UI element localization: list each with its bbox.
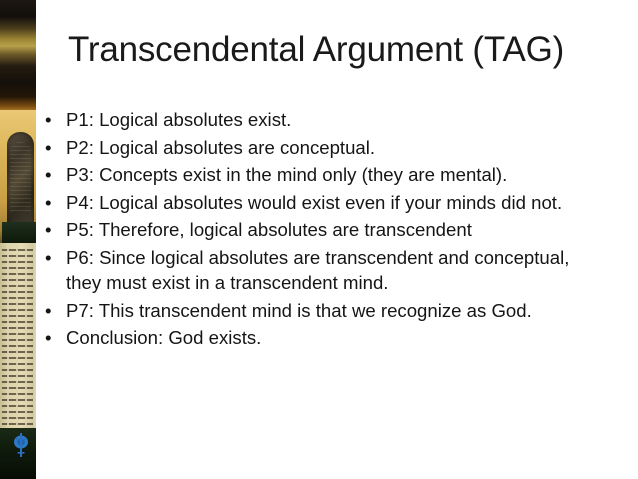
bullet-marker-icon: •: [45, 325, 52, 351]
bullet-marker-icon: •: [45, 190, 52, 216]
sidebar-blurred-amber-band: [0, 0, 36, 118]
list-item-label: P2: Logical absolutes are conceptual.: [66, 137, 375, 158]
list-item: • P3: Concepts exist in the mind only (t…: [42, 162, 598, 188]
list-item: • P1: Logical absolutes exist.: [42, 107, 598, 133]
list-item: • P7: This transcendent mind is that we …: [42, 298, 598, 324]
list-item: • P6: Since logical absolutes are transc…: [42, 245, 598, 296]
list-item: • P2: Logical absolutes are conceptual.: [42, 135, 598, 161]
list-item-label: P1: Logical absolutes exist.: [66, 109, 291, 130]
blue-cross-emblem-icon: [13, 432, 29, 458]
slide: Transcendental Argument (TAG) • P1: Logi…: [0, 0, 638, 479]
bullet-marker-icon: •: [45, 162, 52, 188]
bullet-marker-icon: •: [45, 217, 52, 243]
list-item-label: P4: Logical absolutes would exist even i…: [66, 192, 562, 213]
list-item: • P5: Therefore, logical absolutes are t…: [42, 217, 598, 243]
list-item-label: P3: Concepts exist in the mind only (the…: [66, 164, 507, 185]
argument-premise-list: • P1: Logical absolutes exist. • P2: Log…: [42, 107, 598, 353]
bullet-marker-icon: •: [45, 245, 52, 271]
sidebar-scripture-page: [0, 243, 36, 433]
list-item-label: P7: This transcendent mind is that we re…: [66, 300, 532, 321]
list-item: • Conclusion: God exists.: [42, 325, 598, 351]
list-item-label: Conclusion: God exists.: [66, 327, 261, 348]
decorative-photo-sidebar: [0, 0, 36, 479]
list-item-label: P6: Since logical absolutes are transcen…: [66, 247, 569, 294]
bullet-marker-icon: •: [45, 107, 52, 133]
list-item-label: P5: Therefore, logical absolutes are tra…: [66, 219, 472, 240]
sidebar-medallion-base: [2, 222, 36, 244]
sidebar-medallion-object: [7, 132, 34, 228]
bullet-marker-icon: •: [45, 135, 52, 161]
list-item: • P4: Logical absolutes would exist even…: [42, 190, 598, 216]
bullet-marker-icon: •: [45, 298, 52, 324]
page-title: Transcendental Argument (TAG): [68, 28, 628, 72]
